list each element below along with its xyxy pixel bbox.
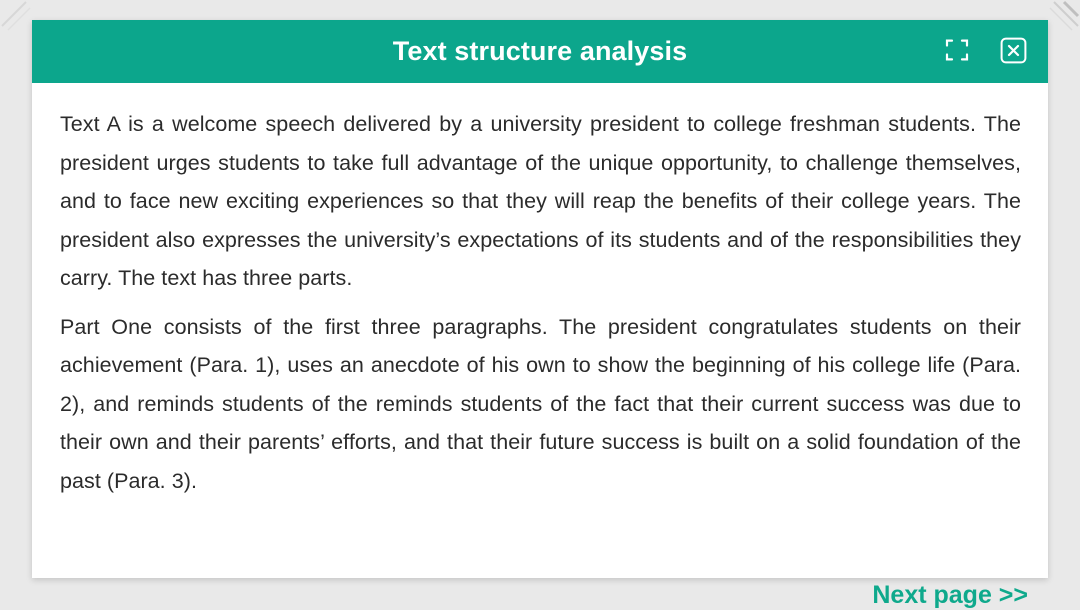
analysis-paragraph-overview: Text A is a welcome speech delivered by … [60, 105, 1021, 298]
dialog-header-actions [942, 20, 1028, 83]
dialog-body: Text A is a welcome speech delivered by … [32, 83, 1048, 578]
next-page-link[interactable]: Next page >> [872, 581, 1028, 610]
dialog-header: Text structure analysis [32, 20, 1048, 83]
analysis-paragraph-part-one: Part One consists of the first three par… [60, 308, 1021, 501]
close-icon [1000, 37, 1027, 67]
dialog-title: Text structure analysis [243, 36, 837, 67]
fullscreen-icon [944, 37, 970, 66]
fullscreen-button[interactable] [942, 37, 972, 67]
close-button[interactable] [998, 37, 1028, 67]
text-structure-analysis-dialog: Text structure analysis [32, 20, 1048, 578]
